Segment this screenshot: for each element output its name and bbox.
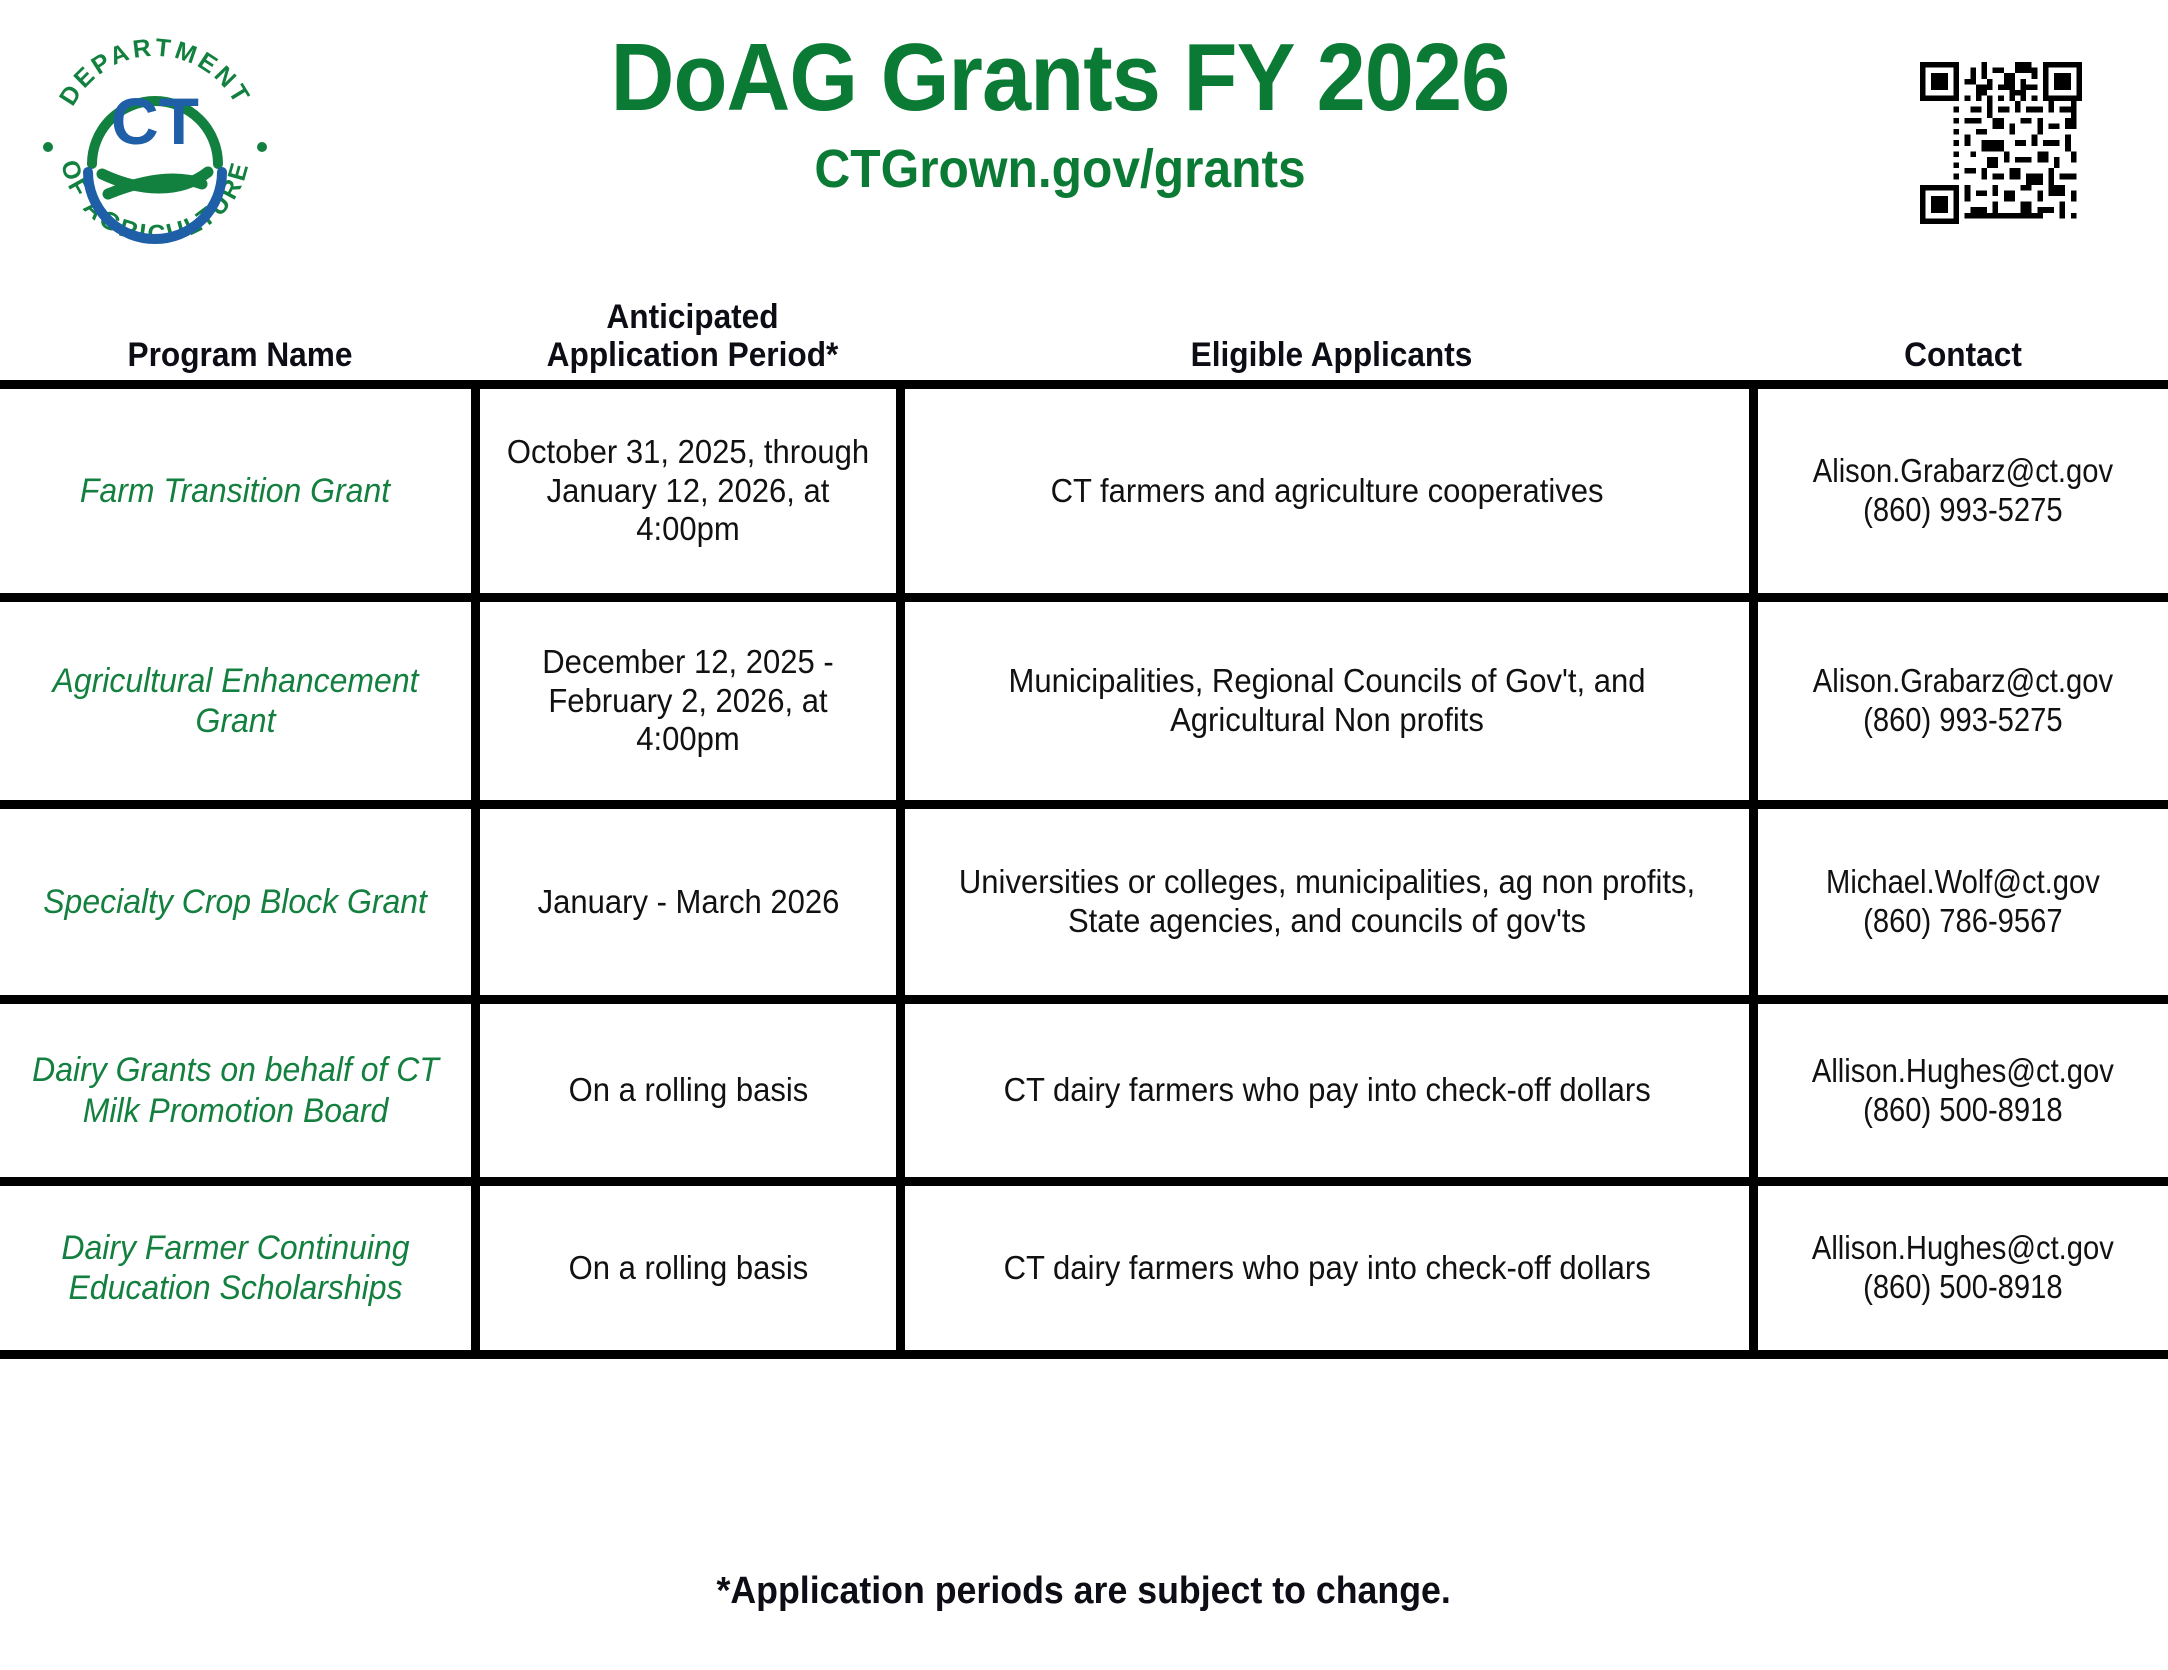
application-period-text: December 12, 2025 - February 2, 2026, at… <box>506 643 871 760</box>
eligible-applicants-text: CT dairy farmers who pay into check-off … <box>1003 1249 1650 1288</box>
contact-phone[interactable]: (860) 993-5275 <box>1863 701 2062 740</box>
eligible-applicants-text: CT dairy farmers who pay into check-off … <box>1003 1071 1650 1110</box>
contact-block: Alison.Grabarz@ct.gov (860) 993-5275 <box>1803 662 2122 740</box>
column-header-eligible-applicants: Eligible Applicants <box>935 336 1728 374</box>
cell-program-name: Specialty Crop Block Grant <box>0 809 480 995</box>
table-row: Agricultural Enhancement Grant December … <box>0 602 2168 809</box>
cell-application-period: December 12, 2025 - February 2, 2026, at… <box>480 602 905 800</box>
page-header: DEPARTMENT OF AGRICULTURE CT DoAG Grants… <box>0 0 2168 280</box>
contact-block: Michael.Wolf@ct.gov (860) 786-9567 <box>1817 863 2108 941</box>
eligible-applicants-text: CT farmers and agriculture cooperatives <box>1051 472 1604 511</box>
cell-eligible-applicants: Universities or colleges, municipalities… <box>905 809 1758 995</box>
program-name-text: Farm Transition Grant <box>80 471 390 511</box>
qr-code[interactable] <box>1920 62 2082 224</box>
application-period-text: On a rolling basis <box>568 1071 808 1110</box>
cell-contact: Alison.Grabarz@ct.gov (860) 993-5275 <box>1758 389 2168 593</box>
contact-phone[interactable]: (860) 500-8918 <box>1863 1091 2062 1130</box>
program-name-text: Dairy Grants on behalf of CT Milk Promot… <box>27 1050 443 1130</box>
column-header-application-period-line1: Anticipated <box>495 298 890 336</box>
application-period-text: October 31, 2025, through January 12, 20… <box>506 433 871 550</box>
cell-program-name: Agricultural Enhancement Grant <box>0 602 480 800</box>
contact-block: Allison.Hughes@ct.gov (860) 500-8918 <box>1802 1052 2123 1130</box>
cell-program-name: Dairy Grants on behalf of CT Milk Promot… <box>0 1004 480 1177</box>
table-row: Specialty Crop Block Grant January - Mar… <box>0 809 2168 1004</box>
contact-phone[interactable]: (860) 993-5275 <box>1863 491 2062 530</box>
column-header-application-period-line2: Application Period* <box>495 336 890 374</box>
cell-application-period: On a rolling basis <box>480 1004 905 1177</box>
contact-email[interactable]: Alison.Grabarz@ct.gov <box>1813 662 2113 701</box>
contact-block: Alison.Grabarz@ct.gov (860) 993-5275 <box>1803 452 2122 530</box>
program-name-text: Agricultural Enhancement Grant <box>27 661 443 741</box>
cell-contact: Allison.Hughes@ct.gov (860) 500-8918 <box>1758 1186 2168 1350</box>
table-body: Farm Transition Grant October 31, 2025, … <box>0 380 2168 1359</box>
table-column-headers: Program Name Anticipated Application Per… <box>0 280 2168 380</box>
table-row: Farm Transition Grant October 31, 2025, … <box>0 389 2168 602</box>
cell-program-name: Farm Transition Grant <box>0 389 480 593</box>
cell-application-period: On a rolling basis <box>480 1186 905 1350</box>
contact-email[interactable]: Allison.Hughes@ct.gov <box>1812 1229 2114 1268</box>
cell-contact: Allison.Hughes@ct.gov (860) 500-8918 <box>1758 1004 2168 1177</box>
svg-text:CT: CT <box>111 84 199 158</box>
page-title: DoAG Grants FY 2026 <box>471 30 1649 126</box>
table-row: Dairy Farmer Continuing Education Schola… <box>0 1186 2168 1350</box>
program-name-text: Specialty Crop Block Grant <box>44 882 428 922</box>
column-header-application-period: Anticipated Application Period* <box>495 298 890 374</box>
contact-email[interactable]: Michael.Wolf@ct.gov <box>1826 863 2100 902</box>
eligible-applicants-text: Universities or colleges, municipalities… <box>943 863 1710 941</box>
contact-phone[interactable]: (860) 786-9567 <box>1863 902 2062 941</box>
application-period-text: January - March 2026 <box>537 883 839 922</box>
ct-department-of-agriculture-logo: DEPARTMENT OF AGRICULTURE CT <box>30 22 280 272</box>
contact-block: Allison.Hughes@ct.gov (860) 500-8918 <box>1802 1229 2123 1307</box>
cell-contact: Alison.Grabarz@ct.gov (860) 993-5275 <box>1758 602 2168 800</box>
column-header-contact: Contact <box>1772 336 2153 374</box>
cell-application-period: January - March 2026 <box>480 809 905 995</box>
column-header-program-name: Program Name <box>17 336 463 374</box>
cell-eligible-applicants: Municipalities, Regional Councils of Gov… <box>905 602 1758 800</box>
eligible-applicants-text: Municipalities, Regional Councils of Gov… <box>943 662 1710 740</box>
cell-eligible-applicants: CT farmers and agriculture cooperatives <box>905 389 1758 593</box>
footer-disclaimer-text: *Application periods are subject to chan… <box>717 1570 1451 1613</box>
grants-table: Program Name Anticipated Application Per… <box>0 280 2168 1359</box>
footer-disclaimer: *Application periods are subject to chan… <box>0 1570 2168 1613</box>
page-subtitle-url: CTGrown.gov/grants <box>471 140 1649 199</box>
cell-program-name: Dairy Farmer Continuing Education Schola… <box>0 1186 480 1350</box>
cell-contact: Michael.Wolf@ct.gov (860) 786-9567 <box>1758 809 2168 995</box>
cell-application-period: October 31, 2025, through January 12, 20… <box>480 389 905 593</box>
contact-phone[interactable]: (860) 500-8918 <box>1863 1268 2062 1307</box>
application-period-text: On a rolling basis <box>568 1249 808 1288</box>
contact-email[interactable]: Alison.Grabarz@ct.gov <box>1813 452 2113 491</box>
contact-email[interactable]: Allison.Hughes@ct.gov <box>1812 1052 2114 1091</box>
table-row: Dairy Grants on behalf of CT Milk Promot… <box>0 1004 2168 1186</box>
title-block: DoAG Grants FY 2026 CTGrown.gov/grants <box>420 30 1700 199</box>
cell-eligible-applicants: CT dairy farmers who pay into check-off … <box>905 1186 1758 1350</box>
program-name-text: Dairy Farmer Continuing Education Schola… <box>27 1228 443 1308</box>
cell-eligible-applicants: CT dairy farmers who pay into check-off … <box>905 1004 1758 1177</box>
